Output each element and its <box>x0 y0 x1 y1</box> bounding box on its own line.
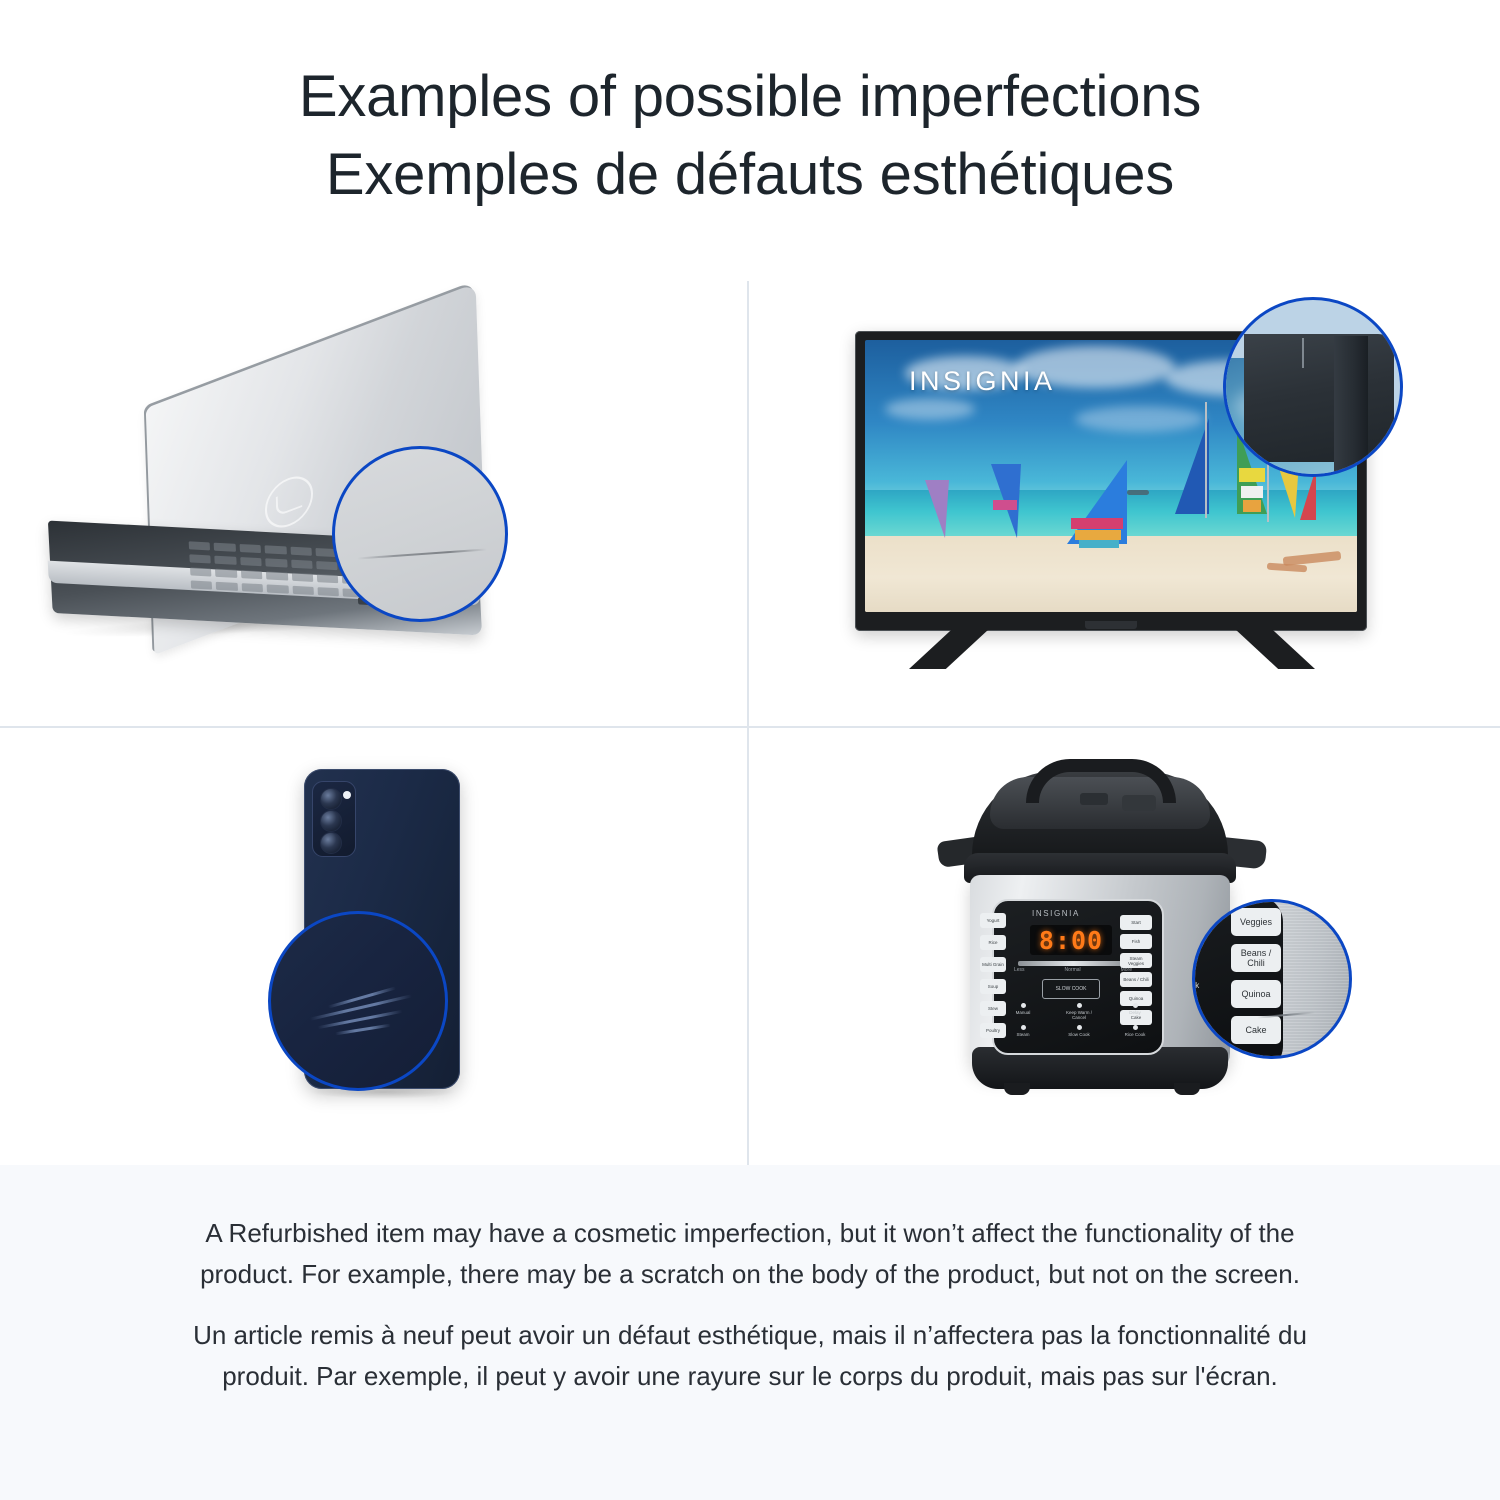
cooker-button-multigrain[interactable]: Multi Grain <box>980 957 1006 972</box>
cooker-button-start[interactable]: Start <box>1120 915 1152 930</box>
screen-sail <box>1171 418 1209 514</box>
grid-divider-horizontal <box>0 726 1500 728</box>
keyboard-key <box>267 584 289 593</box>
cooker-zoom-button-veggies[interactable]: Veggies <box>1231 908 1281 936</box>
tv-zoom-bezel-edge <box>1334 336 1368 477</box>
keyboard-key <box>316 561 338 570</box>
keyboard-key <box>266 571 288 580</box>
keyboard-key <box>239 544 261 553</box>
cooker-button-poultry[interactable]: Poultry <box>980 1023 1006 1038</box>
cooker-indicator-dot <box>1021 1025 1026 1030</box>
page-title: Examples of possible imperfections Exemp… <box>0 58 1500 214</box>
phone-camera-module <box>312 781 356 857</box>
cooker-lid-handle <box>1026 759 1176 803</box>
grid-divider-vertical <box>747 281 749 1165</box>
keyboard-key <box>240 557 262 566</box>
keyboard-key <box>241 570 263 579</box>
cooker-button-delay-label: Delay <box>1129 1010 1141 1015</box>
grid-cell-smartphone <box>0 729 747 1165</box>
pressure-cooker-illustration: INSIGNIA 8:00 Less Normal More SLOW COOK… <box>930 747 1350 1137</box>
phone-scratch-detail <box>335 1024 391 1036</box>
cooker-level-bar <box>1018 961 1128 966</box>
cooker-button-stew[interactable]: Stew <box>980 1001 1006 1016</box>
cooker-control-panel: INSIGNIA 8:00 Less Normal More SLOW COOK… <box>992 899 1164 1055</box>
magnifier-circle-television <box>1223 297 1403 477</box>
screen-sail-stripe <box>1071 518 1123 529</box>
cooker-foot <box>1004 1083 1030 1095</box>
cooker-button-soup[interactable]: Soup <box>980 979 1006 994</box>
keyboard-key <box>215 569 237 578</box>
magnifier-circle-laptop <box>332 446 508 622</box>
cooker-zoom-label-slow-cook: Slow Cook <box>1192 981 1207 990</box>
keyboard-key <box>190 567 212 576</box>
camera-lens-icon <box>320 832 342 854</box>
cooker-button-slow-cook-label: Slow Cook <box>1068 1032 1090 1037</box>
screen-sail-stripe <box>1079 540 1119 548</box>
cooker-level-less: Less <box>1014 967 1025 973</box>
cooker-button-keep-warm-cancel[interactable]: Keep Warm / Cancel <box>1064 1003 1094 1020</box>
cooker-level-labels: Less Normal More <box>1014 967 1132 973</box>
screen-mast <box>1205 402 1207 518</box>
magnifier-circle-smartphone <box>268 911 448 1091</box>
camera-lens-icon <box>320 810 342 832</box>
cooker-button-steam-label: Steam <box>1016 1032 1029 1037</box>
cooker-button-rice-cook[interactable]: Rice Cook <box>1120 1025 1150 1037</box>
cooker-zoom-button-cake[interactable]: Cake <box>1231 1016 1281 1044</box>
screen-sail-stripe <box>1243 500 1261 512</box>
tv-zoom-bezel <box>1244 334 1394 462</box>
camera-lens-icon <box>320 788 342 810</box>
keyboard-key <box>292 586 314 595</box>
tv-stand-right <box>1235 629 1315 669</box>
title-line-french: Exemples de défauts esthétiques <box>0 136 1500 214</box>
cooker-button-steam-veggies[interactable]: Steam Veggies <box>1120 953 1152 968</box>
cooker-indicator-dot <box>1133 1003 1138 1008</box>
cooker-indicator-dot <box>1133 1025 1138 1030</box>
screen-sail-stripe <box>993 500 1017 510</box>
cooker-foot <box>1174 1083 1200 1095</box>
cooker-zoom-button-quinoa[interactable]: Quinoa <box>1231 980 1281 1008</box>
keyboard-key <box>241 583 263 592</box>
tv-scratch-detail <box>1302 338 1304 368</box>
television-illustration: INSIGNIA <box>835 299 1415 689</box>
magnifier-circle-pressure-cooker: Delay Slow Cook Veggies Beans / Chili Qu… <box>1192 899 1352 1059</box>
camera-flash-icon <box>343 791 351 799</box>
screen-sail-stripe <box>1241 486 1263 498</box>
keyboard-key <box>291 560 313 569</box>
explanation-paragraph-french: Un article remis à neuf peut avoir un dé… <box>180 1295 1320 1397</box>
keyboard-key <box>216 582 238 591</box>
screen-sail <box>925 480 949 538</box>
keyboard-key <box>191 580 213 589</box>
keyboard-key <box>318 587 340 596</box>
keyboard-key <box>317 574 339 583</box>
cooker-button-manual-label: Manual <box>1016 1010 1031 1015</box>
product-example-grid: INSIGNIA <box>0 281 1500 1165</box>
tv-brand-logo: INSIGNIA <box>909 366 1056 397</box>
screen-distant-boat <box>1127 490 1149 495</box>
keyboard-key <box>265 558 287 567</box>
cooker-slow-cook-button[interactable]: SLOW COOK <box>1042 979 1100 999</box>
cooker-zoom-button-beans-chili[interactable]: Beans / Chili <box>1231 944 1281 972</box>
keyboard-key <box>265 545 287 554</box>
keyboard-key <box>215 556 237 565</box>
cooker-button-steam[interactable]: Steam <box>1008 1025 1038 1037</box>
cooker-button-beans-chili[interactable]: Beans / Chili <box>1120 972 1152 987</box>
cooker-zoom-button-column: Veggies Beans / Chili Quinoa Cake <box>1231 908 1281 1044</box>
smartphone-illustration <box>240 759 510 1129</box>
cooker-button-delay[interactable]: Delay <box>1120 1003 1150 1020</box>
keyboard-key <box>189 541 211 550</box>
cooker-indicator-dot <box>1021 1003 1026 1008</box>
keyboard-key <box>290 547 312 556</box>
cooker-mid-button-row: Manual Keep Warm / Cancel Delay <box>1008 1003 1150 1020</box>
infographic-page: Examples of possible imperfections Exemp… <box>0 0 1500 1500</box>
laptop-scratch-detail <box>357 548 487 559</box>
cooker-zoom-left-labels: Delay Slow Cook <box>1192 946 1207 990</box>
explanation-section: A Refurbished item may have a cosmetic i… <box>0 1165 1500 1500</box>
laptop-illustration <box>40 336 600 666</box>
keyboard-key <box>292 573 314 582</box>
grid-cell-television: INSIGNIA <box>750 281 1500 726</box>
cooker-button-slow-cook[interactable]: Slow Cook <box>1064 1025 1094 1037</box>
cooker-mid-button-row-2: Steam Slow Cook Rice Cook <box>1008 1025 1150 1037</box>
cooker-timer-value: 8:00 <box>1039 926 1103 955</box>
explanation-paragraph-english: A Refurbished item may have a cosmetic i… <box>180 1165 1320 1295</box>
cooker-indicator-dot <box>1077 1025 1082 1030</box>
grid-cell-laptop <box>0 281 747 726</box>
title-line-english: Examples of possible imperfections <box>0 58 1500 136</box>
cooker-button-rice[interactable]: Rice <box>980 935 1006 950</box>
cooker-button-fish[interactable]: Fish <box>1120 934 1152 949</box>
screen-sail-stripe <box>1075 530 1121 540</box>
cooker-left-button-column: Yogurt Rice Multi Grain Soup Stew Poultr… <box>980 913 1006 1038</box>
cooker-led-display: 8:00 <box>1030 925 1112 955</box>
tv-bottom-badge <box>1085 621 1137 629</box>
keyboard-key <box>214 543 236 552</box>
grid-cell-pressure-cooker: INSIGNIA 8:00 Less Normal More SLOW COOK… <box>750 729 1500 1165</box>
tv-stand-left <box>909 629 989 669</box>
cooker-button-manual[interactable]: Manual <box>1008 1003 1038 1020</box>
screen-cloud <box>885 398 975 420</box>
keyboard-key <box>189 554 211 563</box>
cooker-button-rice-cook-label: Rice Cook <box>1125 1032 1146 1037</box>
cooker-indicator-dot <box>1077 1003 1082 1008</box>
cooker-level-normal: Normal <box>1065 967 1081 973</box>
cooker-button-keep-warm-label: Keep Warm / Cancel <box>1066 1010 1092 1020</box>
cooker-zoom-label-delay: Delay <box>1192 946 1207 955</box>
cooker-button-yogurt[interactable]: Yogurt <box>980 913 1006 928</box>
cooker-brand-logo: INSIGNIA <box>1032 909 1080 918</box>
